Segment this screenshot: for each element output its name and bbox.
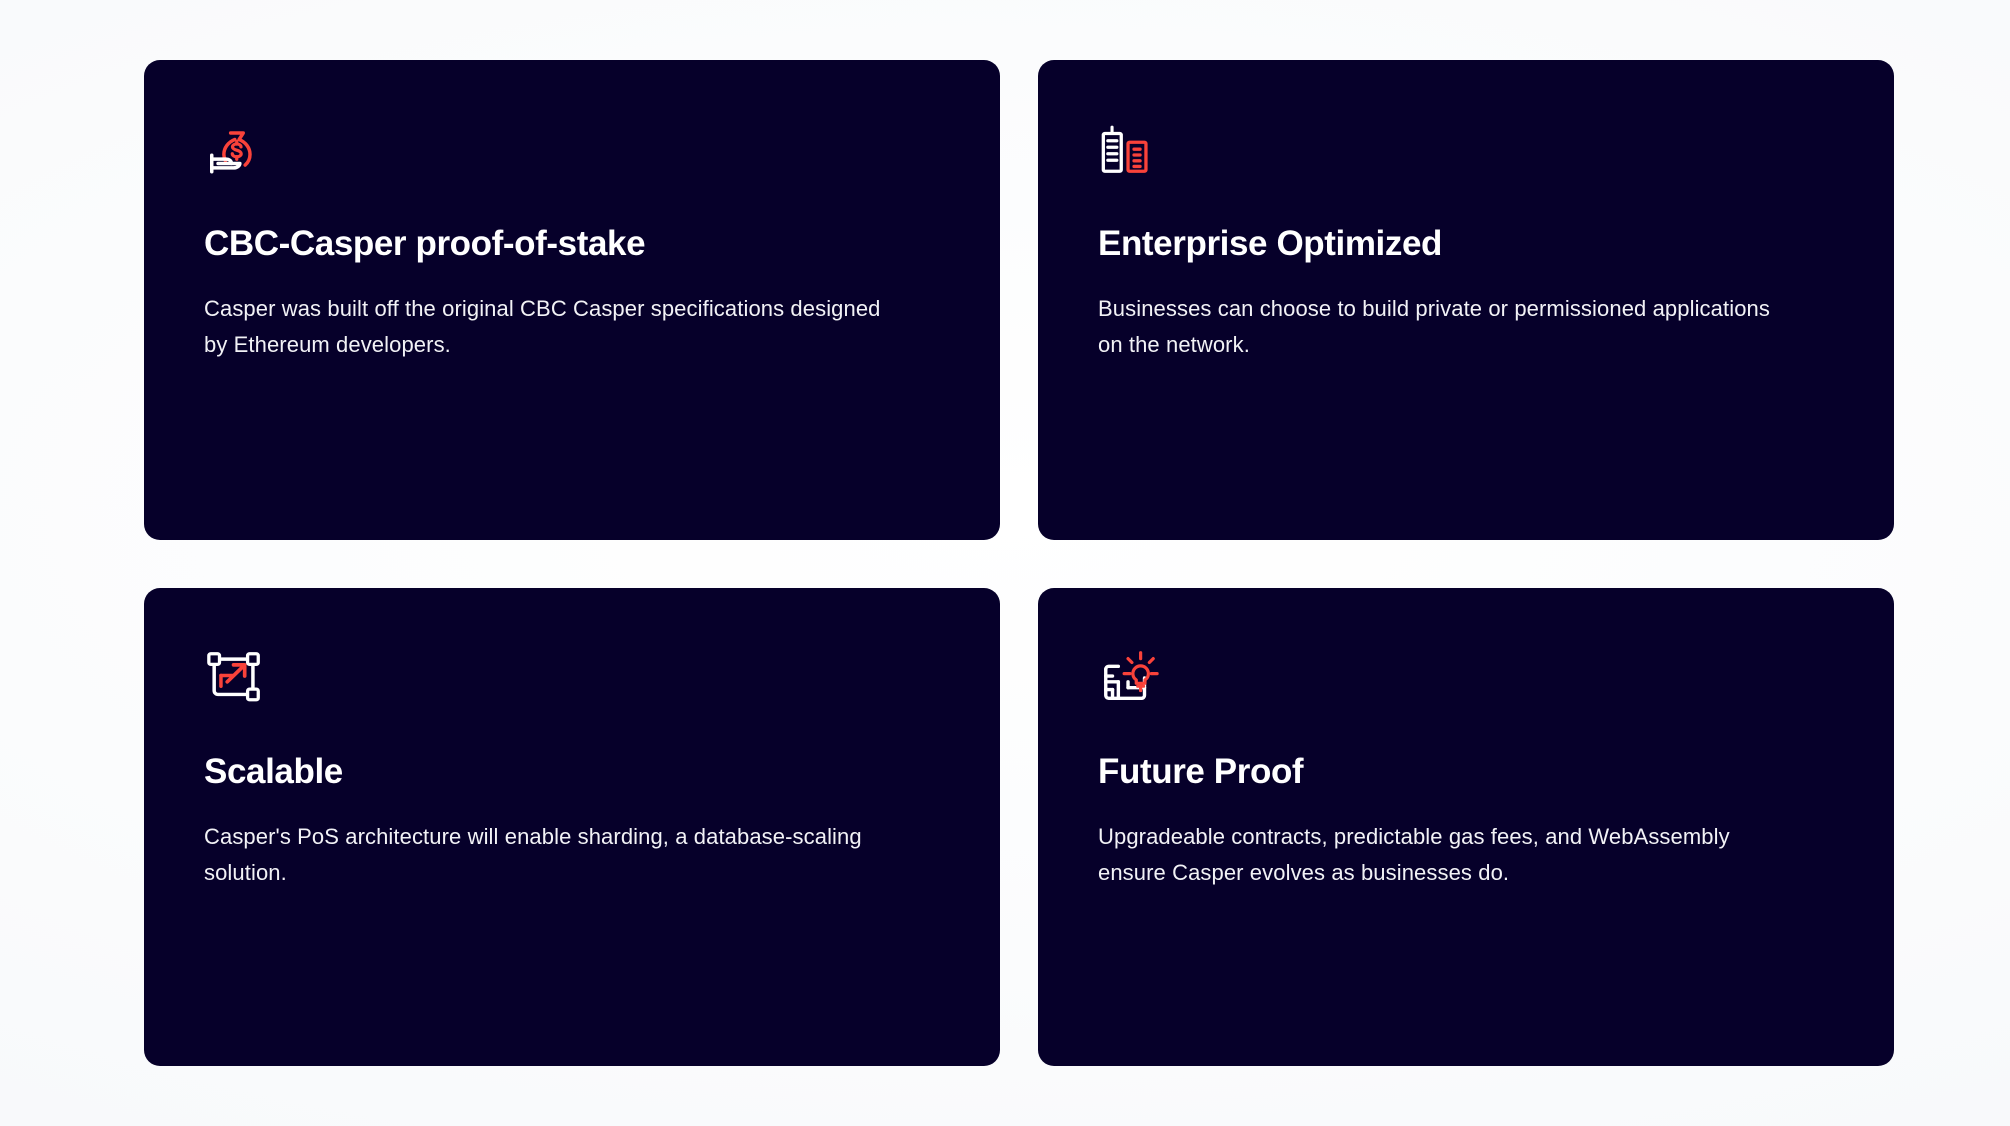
card-title: CBC-Casper proof-of-stake <box>204 224 940 264</box>
card-description: Upgradeable contracts, predictable gas f… <box>1098 819 1798 890</box>
card-title: Enterprise Optimized <box>1098 224 1834 264</box>
office-buildings-icon <box>1098 118 1160 180</box>
feature-card-future-proof[interactable]: Future Proof Upgradeable contracts, pred… <box>1038 588 1894 1066</box>
feature-card-scalable[interactable]: Scalable Casper's PoS architecture will … <box>144 588 1000 1066</box>
feature-card-enterprise-optimized[interactable]: Enterprise Optimized Businesses can choo… <box>1038 60 1894 540</box>
money-bag-hand-icon <box>204 118 266 180</box>
feature-card-cbc-casper[interactable]: CBC-Casper proof-of-stake Casper was bui… <box>144 60 1000 540</box>
card-description: Casper was built off the original CBC Ca… <box>204 291 904 362</box>
card-description: Businesses can choose to build private o… <box>1098 291 1798 362</box>
card-title: Future Proof <box>1098 752 1834 792</box>
scale-expand-arrow-icon <box>204 646 266 708</box>
feature-cards-grid: CBC-Casper proof-of-stake Casper was bui… <box>144 60 1870 1066</box>
card-title: Scalable <box>204 752 940 792</box>
card-description: Casper's PoS architecture will enable sh… <box>204 819 904 890</box>
blueprint-lightbulb-icon <box>1098 646 1160 708</box>
